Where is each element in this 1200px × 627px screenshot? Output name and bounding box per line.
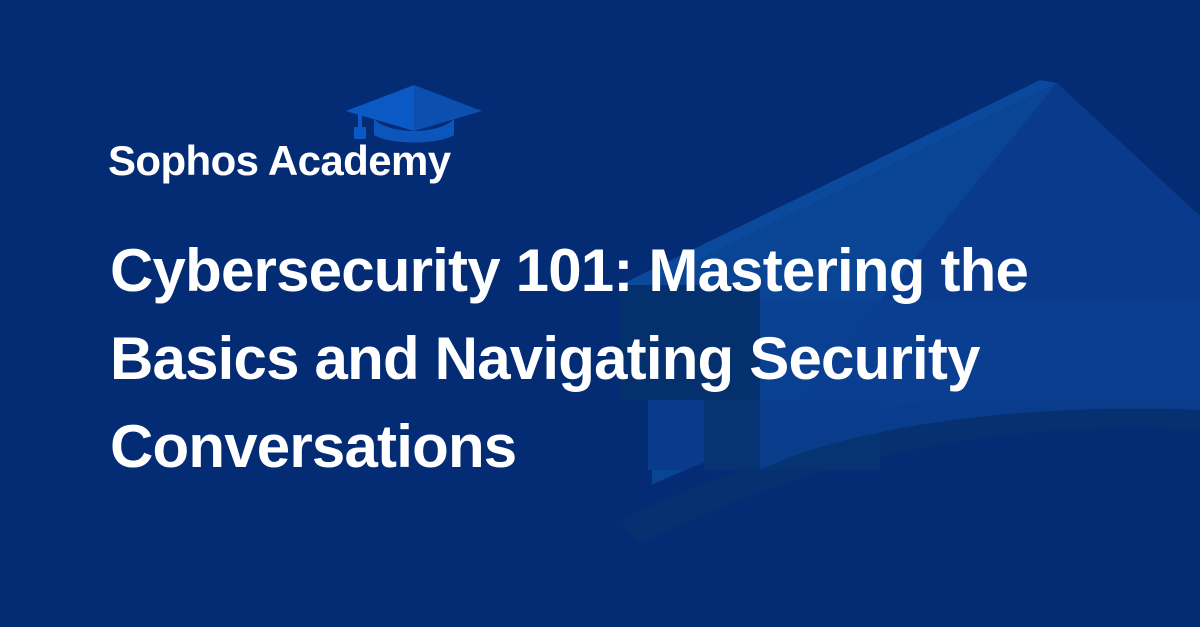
page-title: Cybersecurity 101: Mastering the Basics … [110,227,1100,491]
page-title-line-2: Basics and Navigating Security [110,315,1100,403]
banner-content: Sophos Academy Cybersecurity 101: Master… [0,0,1200,627]
cap-tassel-button [357,108,364,115]
page-title-line-1: Cybersecurity 101: Mastering the [110,227,1100,315]
page-title-line-3: Conversations [110,403,1100,491]
cap-tassel-knob [354,127,366,139]
social-share-banner: Sophos Academy Cybersecurity 101: Master… [0,0,1200,627]
brand-lockup: Sophos Academy [108,131,450,183]
graduation-cap-icon [344,83,484,147]
